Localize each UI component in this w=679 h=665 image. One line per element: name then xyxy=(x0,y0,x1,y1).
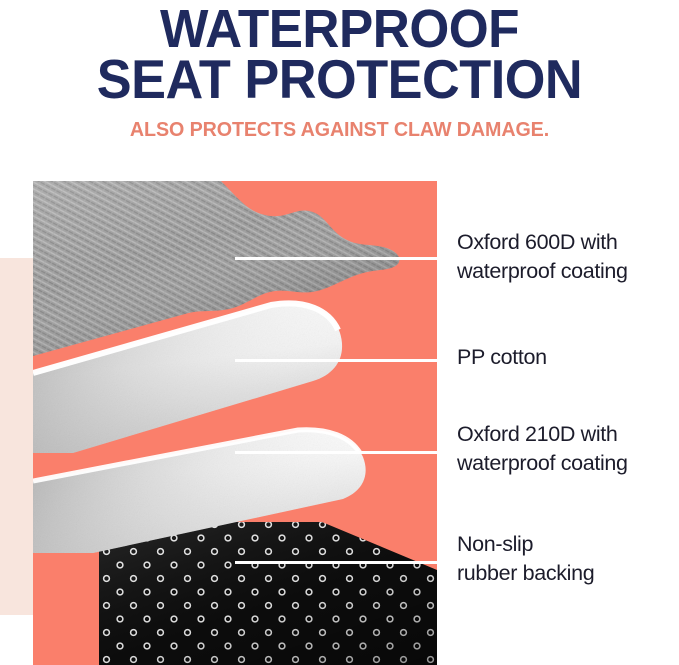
callout-line-1: Non-slip xyxy=(457,532,533,556)
leader-line-oxford-600d xyxy=(235,257,437,260)
callout-line-2: waterproof coating xyxy=(457,257,628,286)
exploded-layer-stack xyxy=(33,181,437,665)
callout-line-2: waterproof coating xyxy=(457,449,628,478)
leader-line-rubber-backing xyxy=(235,561,437,564)
leader-line-pp-cotton xyxy=(235,359,437,362)
leader-line-oxford-210d xyxy=(235,451,437,454)
callout-oxford-210d: Oxford 210D with waterproof coating xyxy=(457,420,628,477)
callout-line-2: rubber backing xyxy=(457,559,594,588)
accent-block-left xyxy=(0,258,34,615)
callout-oxford-600d: Oxford 600D with waterproof coating xyxy=(457,228,628,285)
header-block: WATERPROOF SEAT PROTECTION ALSO PROTECTS… xyxy=(0,0,679,160)
layer-rubber-backing xyxy=(99,522,437,665)
subheadline: ALSO PROTECTS AGAINST CLAW DAMAGE. xyxy=(14,118,666,142)
callout-line-1: PP cotton xyxy=(457,345,547,369)
callout-line-1: Oxford 600D with xyxy=(457,230,618,254)
callout-pp-cotton: PP cotton xyxy=(457,343,547,372)
callout-line-1: Oxford 210D with xyxy=(457,422,618,446)
callout-rubber-backing: Non-slip rubber backing xyxy=(457,530,594,587)
headline-line-1: WATERPROOF xyxy=(17,0,662,54)
headline-line-2: SEAT PROTECTION xyxy=(17,54,662,105)
